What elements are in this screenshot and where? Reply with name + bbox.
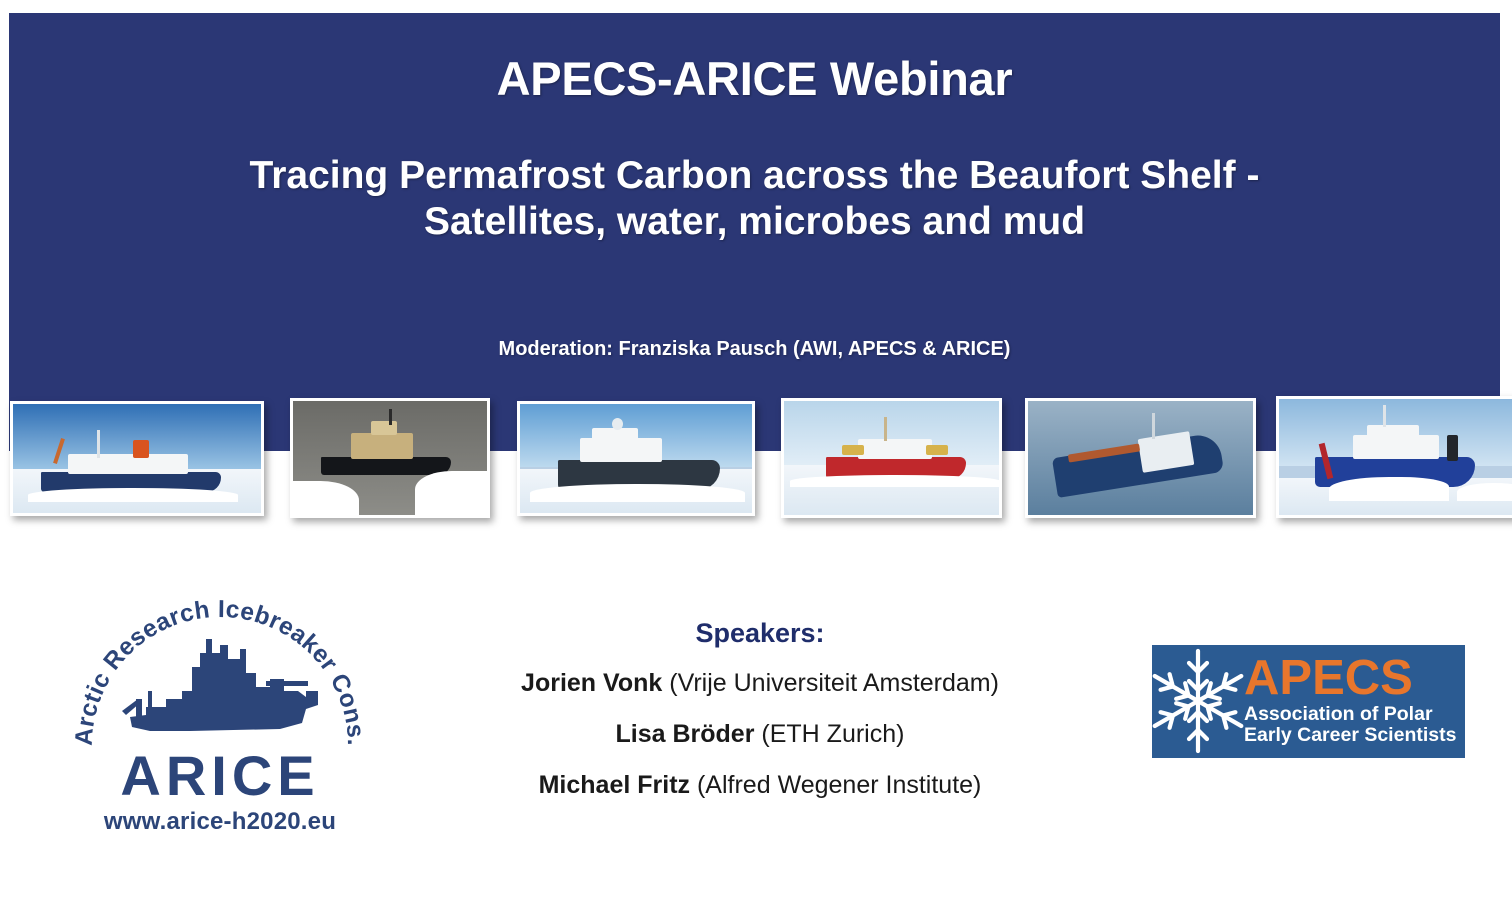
- ship-mast: [1383, 405, 1386, 427]
- speaker-row-1: Jorien Vonk (Vrije Universiteit Amsterda…: [430, 669, 1090, 698]
- ship-mast: [1152, 413, 1155, 439]
- apecs-text-block: APECS Association of Polar Early Career …: [1244, 657, 1465, 746]
- speaker-affiliation-1: (Vrije Universiteit Amsterdam): [669, 669, 999, 697]
- arice-logo: Arctic Research Icebreaker Cons. ARICE w…: [70, 595, 370, 845]
- speaker-name-3: Michael Fritz: [539, 771, 690, 799]
- ship-superstructure: [580, 438, 662, 462]
- ship-funnel: [133, 440, 149, 458]
- header-band: APECS-ARICE Webinar Tracing Permafrost C…: [9, 13, 1500, 451]
- snowflake-icon: [1152, 645, 1244, 758]
- apecs-tagline-line-1: Association of Polar: [1244, 704, 1457, 725]
- ice-ridge: [28, 488, 238, 502]
- apecs-tagline-line-2: Early Career Scientists: [1244, 725, 1457, 746]
- ship-crane-left: [842, 445, 864, 455]
- arice-url: www.arice-h2020.eu: [70, 808, 370, 836]
- ship-superstructure: [68, 454, 188, 474]
- speaker-row-2: Lisa Bröder (ETH Zurich): [430, 720, 1090, 749]
- photo-icebreaker-kronprins-haakon: [517, 401, 755, 516]
- ship-hull: [321, 457, 451, 475]
- photo-icebreaker-aerial: [1025, 398, 1256, 518]
- subtitle-line-1: Tracing Permafrost Carbon across the Bea…: [69, 153, 1440, 199]
- subtitle-line-2: Satellites, water, microbes and mud: [69, 199, 1440, 245]
- ship-mast: [97, 430, 100, 458]
- snowflake-svg: [1152, 645, 1244, 758]
- speakers-heading: Speakers:: [430, 618, 1090, 649]
- ship-bridge: [592, 428, 638, 440]
- ship-superstructure: [858, 439, 932, 459]
- speakers-section: Speakers: Jorien Vonk (Vrije Universitei…: [430, 618, 1090, 822]
- ice-floe-left: [290, 481, 359, 518]
- ship-funnel: [1447, 435, 1458, 461]
- apecs-acronym: APECS: [1244, 655, 1457, 702]
- ship-superstructure: [1353, 435, 1439, 459]
- icebreaker-ship-silhouette-icon: [122, 639, 318, 731]
- photo-icebreaker-polarstern: [10, 401, 264, 516]
- speaker-affiliation-2: (ETH Zurich): [761, 720, 904, 748]
- ice-ridge: [530, 484, 745, 502]
- ship-superstructure: [351, 433, 413, 459]
- moderation-line: Moderation: Franziska Pausch (AWI, APECS…: [9, 338, 1500, 361]
- photo-icebreaker-blue-hull: [1276, 396, 1512, 518]
- photo-icebreaker-oden: [290, 398, 490, 518]
- arice-arc-and-ship: Arctic Research Icebreaker Cons.: [70, 595, 370, 755]
- ship-crane-right: [926, 445, 948, 455]
- ice-ridge-2: [1457, 483, 1512, 501]
- apecs-logo: APECS Association of Polar Early Career …: [1152, 645, 1465, 758]
- speaker-name-2: Lisa Bröder: [616, 720, 755, 748]
- apecs-tagline: Association of Polar Early Career Scient…: [1244, 704, 1457, 746]
- ship-mast: [389, 409, 392, 425]
- page-subtitle: Tracing Permafrost Carbon across the Bea…: [69, 153, 1440, 245]
- ship-bridge: [1367, 425, 1419, 437]
- ship-mast: [884, 417, 887, 441]
- speaker-affiliation-3: (Alfred Wegener Institute): [697, 771, 981, 799]
- photo-icebreaker-amundsen: [781, 398, 1002, 518]
- speaker-name-1: Jorien Vonk: [521, 669, 662, 697]
- ship-bridge: [371, 421, 397, 435]
- webinar-title-slide: APECS-ARICE Webinar Tracing Permafrost C…: [0, 0, 1512, 904]
- ice-ridge: [790, 475, 1000, 487]
- speaker-row-3: Michael Fritz (Alfred Wegener Institute): [430, 771, 1090, 800]
- ship-radome: [612, 418, 623, 430]
- page-title: APECS-ARICE Webinar: [9, 51, 1500, 106]
- ice-ridge: [1329, 477, 1449, 501]
- arice-wordmark: ARICE: [70, 743, 370, 808]
- ice-floe-right: [415, 471, 490, 517]
